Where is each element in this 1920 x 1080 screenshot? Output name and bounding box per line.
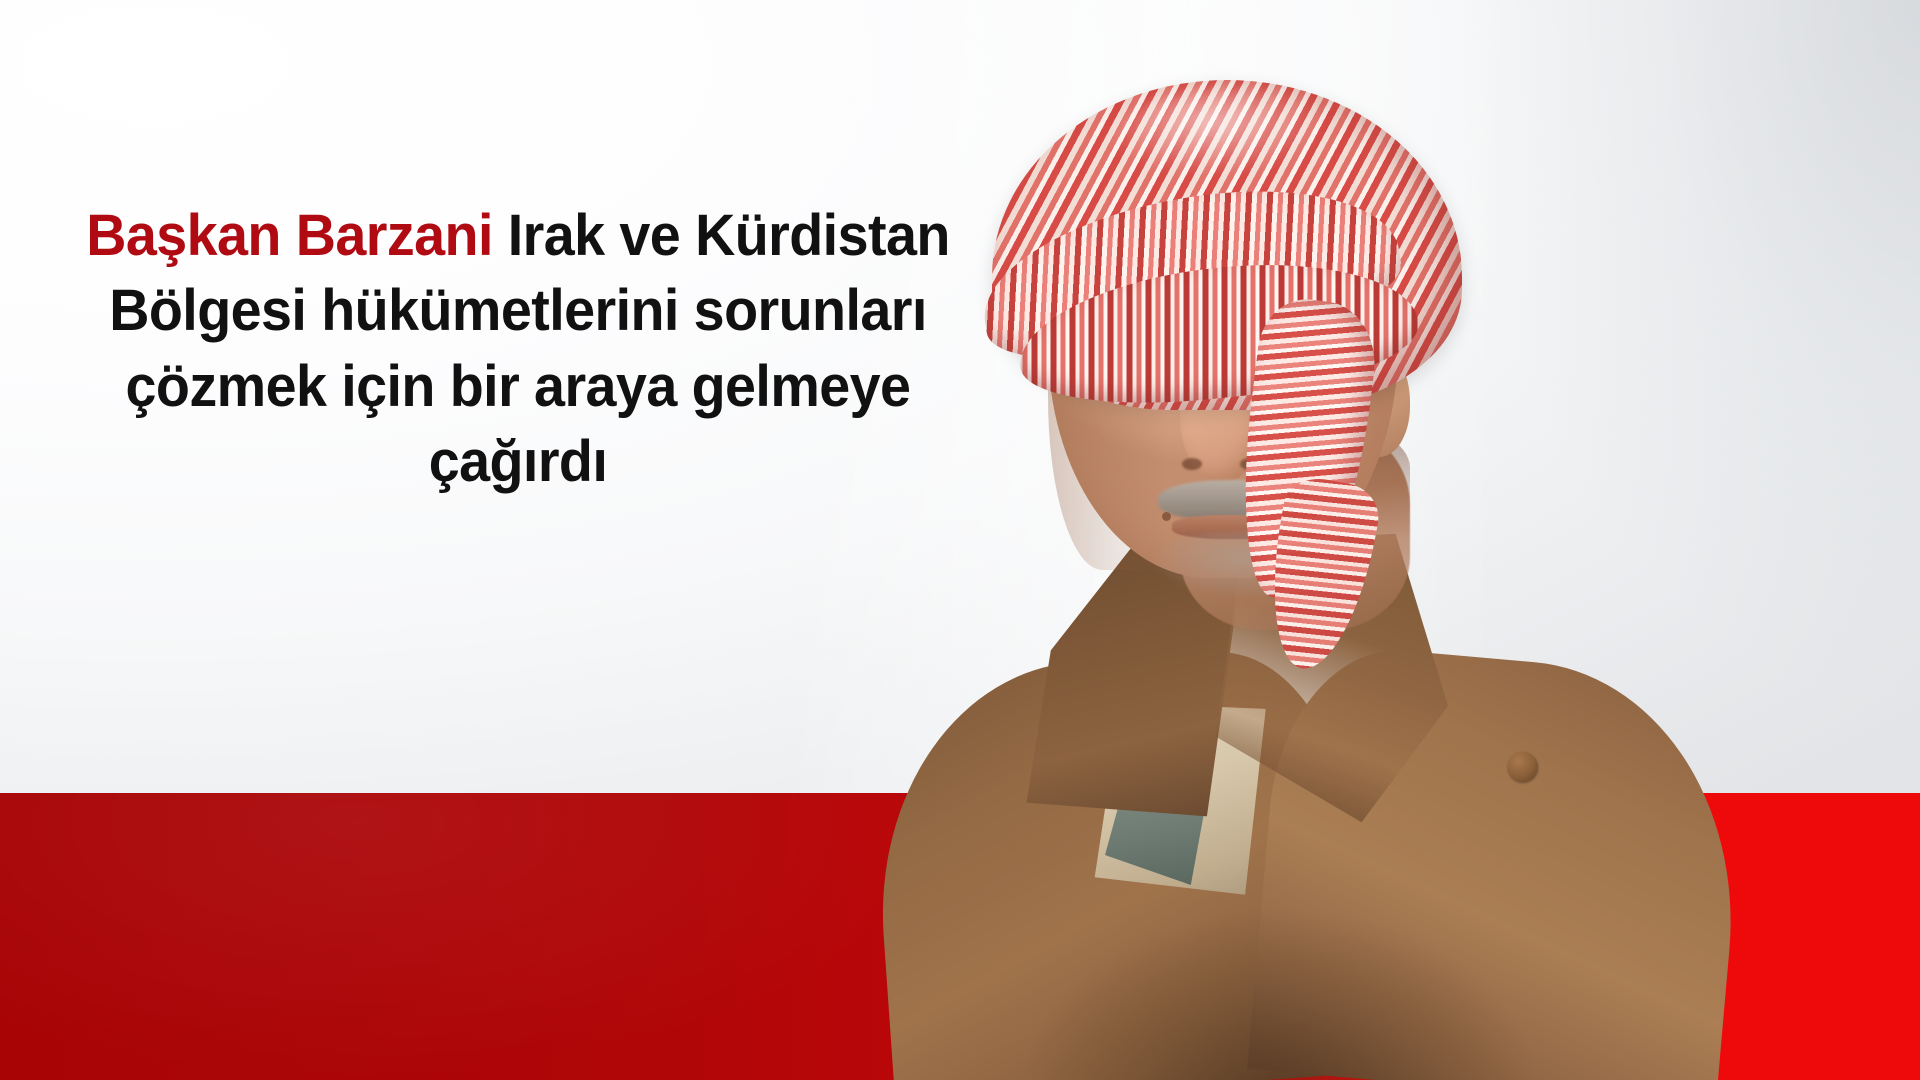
news-banner: Başkan Barzani Irak ve Kürdistan Bölgesi… [0, 0, 1920, 1080]
headline-accent: Başkan Barzani [86, 203, 493, 268]
turban-highlight [1112, 86, 1362, 206]
headline: Başkan Barzani Irak ve Kürdistan Bölgesi… [67, 198, 969, 500]
nostril-left [1182, 458, 1202, 470]
portrait-figure [880, 60, 1710, 1080]
jacket-button [1508, 752, 1538, 782]
kurdish-turban [992, 80, 1462, 410]
facial-mole-cheek [1162, 512, 1171, 521]
